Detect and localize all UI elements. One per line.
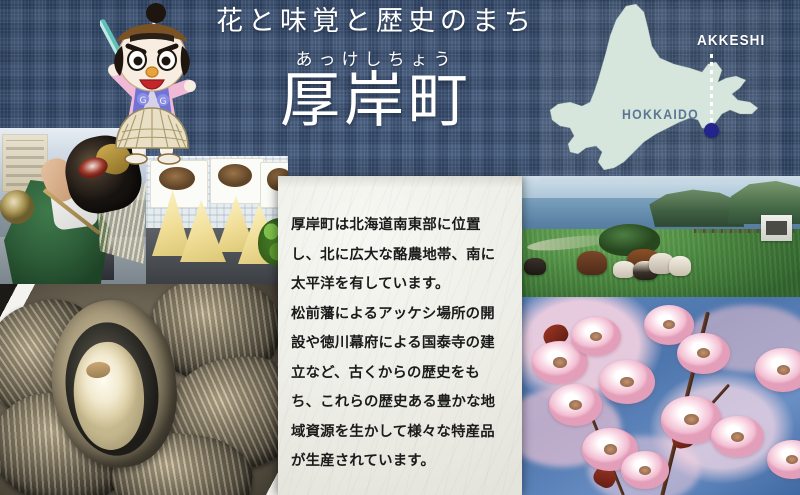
sakura-blossom xyxy=(571,317,621,357)
cherry-blossoms-photo xyxy=(521,297,800,495)
hokkaido-region-label: HOKKAIDO xyxy=(622,106,699,122)
fresh-oysters-photo xyxy=(0,284,288,495)
festival-bell-staff xyxy=(0,190,34,224)
description-text: 厚岸町は北海道南東部に位置し、北に広大な酪農地帯、南に太平洋を有しています。 松… xyxy=(291,210,509,476)
akkeshi-location-dot xyxy=(704,123,719,138)
hokkaido-landmass-icon xyxy=(540,2,790,182)
akkeshi-marker-label: AKKESHI xyxy=(697,32,765,49)
cheese-wedges-photo xyxy=(146,156,288,284)
sakura-blossom xyxy=(755,348,800,392)
sakura-blossom xyxy=(677,333,730,375)
sakura-blossom xyxy=(711,416,764,458)
horses-coastal-pasture-photo xyxy=(521,176,800,297)
hokkaido-map: HOKKAIDO AKKESHI xyxy=(540,2,790,182)
svg-text:G: G xyxy=(160,97,167,107)
tagline: 花と味覚と歴史のまち xyxy=(196,6,556,38)
title-block: 花と味覚と歴史のまち あっけしちょう 厚岸町 xyxy=(196,6,556,136)
description-paragraph-2: 松前藩によるアッケシ場所の開設や徳川幕府による国泰寺の建立など、古くからの歴史を… xyxy=(291,299,509,476)
description-paragraph-1: 厚岸町は北海道南東部に位置し、北に広大な酪農地帯、南に太平洋を有しています。 xyxy=(291,210,509,299)
sakura-blossom xyxy=(549,384,602,426)
sakura-blossom xyxy=(767,440,800,480)
sakura-blossom xyxy=(599,360,655,404)
akkeshi-scallop-samurai-mascot: G G xyxy=(100,2,204,168)
sakura-blossom xyxy=(621,451,668,489)
description-panel: 厚岸町は北海道南東部に位置し、北に広大な酪農地帯、南に太平洋を有しています。 松… xyxy=(278,176,522,495)
cheese-package xyxy=(210,158,264,204)
poster-canvas: HOKKAIDO AKKESHI 花と味覚と歴史のまち あっけしちょう 厚岸町 xyxy=(0,0,800,495)
pasture-signboard xyxy=(761,215,792,242)
grazing-horse xyxy=(669,256,691,277)
akkeshi-leader-line xyxy=(710,54,713,126)
grazing-horse xyxy=(524,258,546,275)
grazing-horse xyxy=(577,251,608,275)
svg-text:G: G xyxy=(140,96,147,106)
town-name-title: 厚岸町 xyxy=(196,68,556,135)
